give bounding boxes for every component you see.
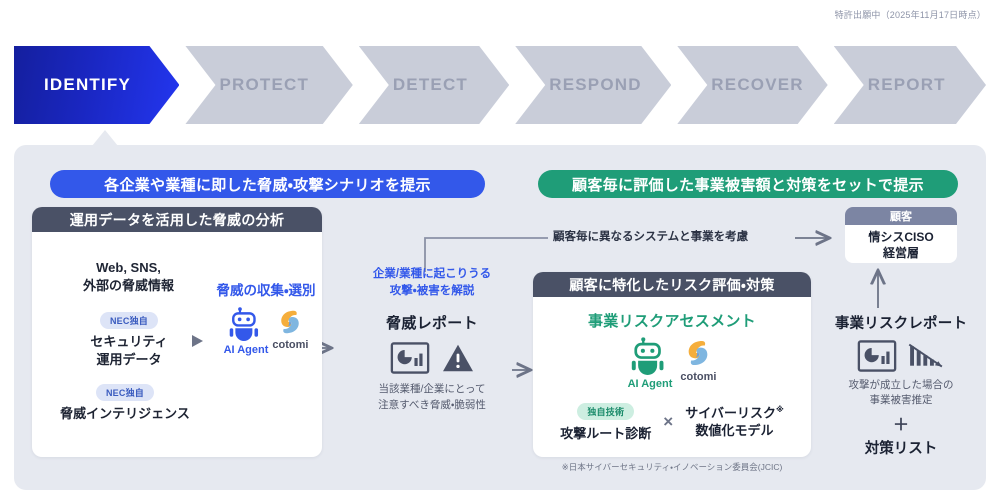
threat-report-caption-line1: 当該業種/企業にとって: [337, 382, 527, 397]
threat-report-lead-line2: 攻撃・被害を解説: [337, 283, 527, 300]
panel-pointer-notch: [92, 130, 118, 146]
pill-business-impact: 顧客毎に評価した事業被害額と対策をセットで提示: [538, 170, 958, 198]
risk-formula-row: 独自技術 攻撃ルート診断 × サイバーリスク※ 数値化モデル: [533, 402, 811, 442]
right-card-risk-assessment: 顧客に特化したリスク評価・対策 事業リスクアセスメント AI Agent: [533, 272, 811, 457]
phase-chevron-respond[interactable]: RESPOND: [515, 46, 671, 124]
ai-agent-row-right: AI Agent cotomi: [533, 337, 811, 390]
multiply-symbol: ×: [663, 412, 673, 432]
ai-agent-blue: AI Agent: [224, 307, 269, 356]
left-card-header: 運用データを活用した脅威の分析: [32, 207, 322, 232]
business-risk-report-block: 事業リスクレポート 攻撃が成立した場合の 事業被害推定 ＋ 対策リスト: [826, 312, 976, 458]
cyber-risk-model-line1: サイバーリスク※: [685, 404, 784, 423]
cotomi-brand: cotomi: [272, 307, 308, 351]
phase-chevron-report[interactable]: REPORT: [834, 46, 986, 124]
patent-note: 特許出願中（2025年11月17日時点）: [835, 8, 986, 21]
footnote-marker: ※: [776, 405, 784, 414]
cyber-risk-model-line2: 数値化モデル: [685, 422, 784, 440]
ai-agent-teal: AI Agent: [628, 337, 673, 390]
business-risk-report-caption: 攻撃が成立した場合の 事業被害推定: [826, 378, 976, 408]
phase-label-recover: RECOVER: [677, 75, 803, 95]
phase-chevron-protect[interactable]: PROTECT: [185, 46, 352, 124]
cotomi-label: cotomi: [272, 339, 308, 351]
phase-label-respond: RESPOND: [515, 75, 641, 95]
nec-original-badge: NEC独自: [96, 384, 154, 401]
business-risk-report-title: 事業リスクレポート: [826, 312, 976, 333]
ai-agent-label: AI Agent: [224, 344, 269, 356]
customer-role-line2: 経営層: [845, 246, 957, 262]
source-label-threat-intel: 脅威インテリジェンス: [40, 405, 210, 423]
cotomi-logo-icon: [275, 307, 305, 337]
business-risk-caption-line2: 事業被害推定: [826, 393, 976, 408]
threat-report-icons: [337, 342, 527, 374]
cyber-risk-model-text: サイバーリスク: [685, 405, 776, 420]
declining-bar-chart-icon: [907, 341, 945, 371]
report-chart-icon: [857, 340, 897, 372]
source-security-ops-data: NEC独自 セキュリティ 運用データ: [44, 311, 214, 368]
source-label-security-ops: セキュリティ 運用データ: [44, 333, 214, 368]
source-label-line1: 脅威インテリジェンス: [40, 405, 210, 423]
robot-icon: [229, 307, 263, 341]
robot-icon: [631, 337, 669, 375]
phase-label-protect: PROTECT: [185, 75, 309, 95]
business-risk-caption-line1: 攻撃が成立した場合の: [826, 378, 976, 393]
customer-card-body: 情シスCISO 経営層: [845, 225, 957, 261]
cotomi-label: cotomi: [680, 371, 716, 383]
attack-route-label: 攻撃ルート診断: [560, 423, 651, 442]
threat-report-block: 企業/業種に起こりうる 攻撃・被害を解説 脅威レポート 当該業種/企業にとって …: [337, 266, 527, 413]
external-source-title-line1: Web, SNS,: [46, 259, 211, 277]
threat-collection-title: 脅威の収集・選別: [210, 279, 322, 299]
countermeasure-list-label: 対策リスト: [826, 437, 976, 458]
external-source-title-line2: 外部の脅威情報: [46, 277, 211, 295]
customer-role-line1: 情シスCISO: [845, 230, 957, 246]
threat-report-caption-line2: 注意すべき脅威・脆弱性: [337, 398, 527, 413]
external-source-title: Web, SNS, 外部の脅威情報: [46, 259, 211, 294]
triangle-arrow-icon: [190, 333, 206, 349]
right-card-header: 顧客に特化したリスク評価・対策: [533, 272, 811, 297]
threat-report-title: 脅威レポート: [337, 312, 527, 333]
phase-chevron-detect[interactable]: DETECT: [359, 46, 509, 124]
proprietary-tech-badge: 独自技術: [577, 403, 634, 420]
business-risk-report-icons: [826, 340, 976, 372]
risk-assessment-title: 事業リスクアセスメント: [533, 310, 811, 331]
threat-report-lead: 企業/業種に起こりうる 攻撃・被害を解説: [337, 266, 527, 299]
phase-chevron-identify[interactable]: IDENTIFY: [14, 46, 179, 124]
cyber-risk-model: サイバーリスク※ 数値化モデル: [685, 404, 784, 441]
phase-label-report: REPORT: [834, 75, 946, 95]
jcic-footnote: ※日本サイバーセキュリティ・イノベーション委員会(JCIC): [533, 461, 811, 473]
report-chart-icon: [390, 342, 430, 374]
attack-route-diagnosis: 独自技術 攻撃ルート診断: [560, 402, 651, 442]
nec-original-badge: NEC独自: [100, 312, 158, 329]
cotomi-logo-icon: [682, 337, 714, 369]
customer-card: 顧客 情シスCISO 経営層: [845, 207, 957, 263]
source-threat-intelligence: NEC独自 脅威インテリジェンス: [40, 383, 210, 423]
phase-label-identify: IDENTIFY: [14, 75, 131, 95]
ai-agent-row-left: AI Agent cotomi: [210, 307, 322, 356]
warning-triangle-icon: [442, 343, 474, 373]
source-label-line2: 運用データ: [44, 351, 214, 369]
threat-report-lead-line1: 企業/業種に起こりうる: [337, 266, 527, 283]
phase-chevron-ribbon: IDENTIFY PROTECT DETECT RESPOND RECOVER …: [14, 46, 986, 124]
plus-symbol: ＋: [826, 411, 976, 435]
phase-chevron-recover[interactable]: RECOVER: [677, 46, 827, 124]
diagram-canvas: 特許出願中（2025年11月17日時点） IDENTIFY PROTECT DE…: [0, 0, 1000, 504]
customer-card-header: 顧客: [845, 207, 957, 225]
phase-label-detect: DETECT: [359, 75, 468, 95]
left-card-threat-analysis: 運用データを活用した脅威の分析 Web, SNS, 外部の脅威情報 NEC独自 …: [32, 207, 322, 457]
connector-label-system-business: 顧客毎に異なるシステムと事業を考慮: [553, 228, 748, 244]
threat-report-caption: 当該業種/企業にとって 注意すべき脅威・脆弱性: [337, 382, 527, 412]
source-label-line1: セキュリティ: [44, 333, 214, 351]
pill-threat-scenario: 各企業や業種に即した脅威・攻撃シナリオを提示: [50, 170, 485, 198]
ai-agent-label: AI Agent: [628, 378, 673, 390]
cotomi-brand: cotomi: [680, 337, 716, 383]
